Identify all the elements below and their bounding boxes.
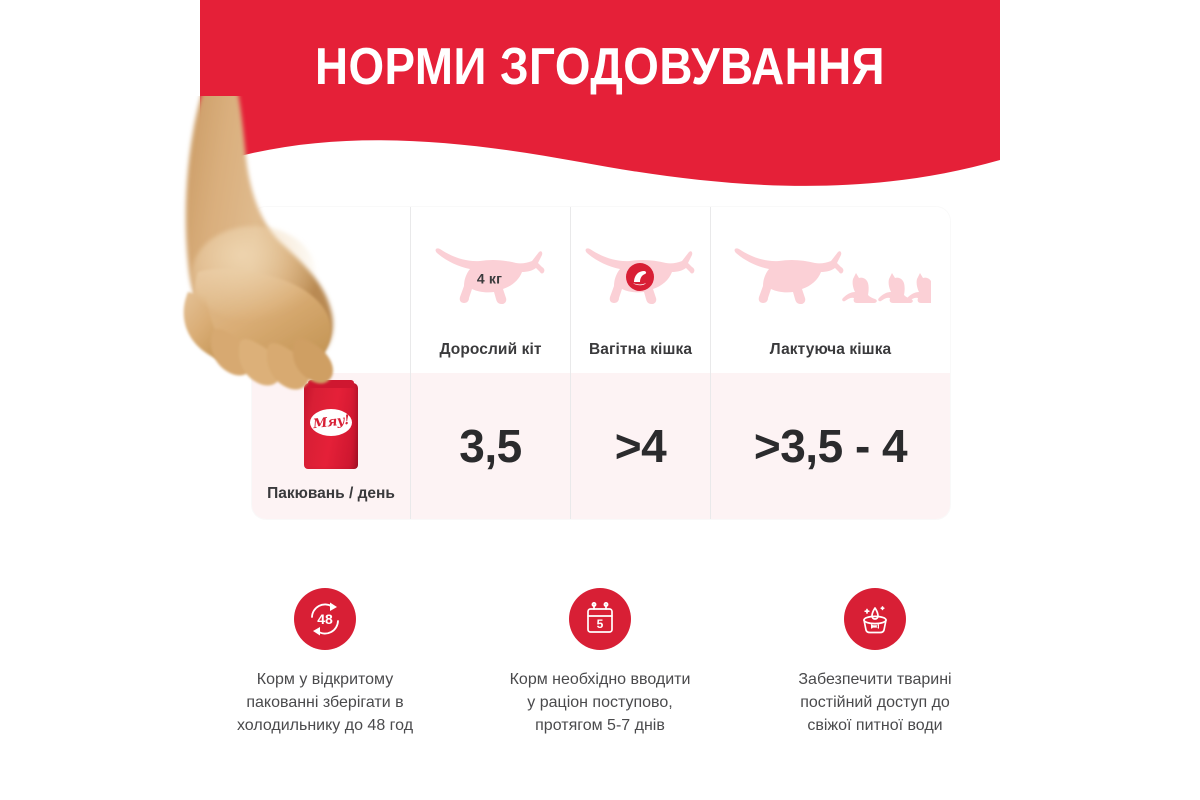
value-text: >4 <box>615 373 666 519</box>
row-label-text: Пакювань / день <box>267 484 395 505</box>
table-row-label-cell: Мяу! Пакювань / день <box>252 373 410 519</box>
value-text: >3,5 - 4 <box>754 373 907 519</box>
feeding-table: 4 кг Дорослий кіт Вагітна кішка <box>252 207 950 519</box>
tips-row: 48 Корм у відкритому пакованні зберігати… <box>200 588 1000 738</box>
tip-icon-circle: 48 <box>294 588 356 650</box>
table-cell-pregnant-cat-value: >4 <box>570 373 710 519</box>
table-header-adult-cat: 4 кг Дорослий кіт <box>410 207 570 373</box>
lactating-cat-silhouette-icon <box>731 237 931 311</box>
pregnant-cat-icon-area <box>571 207 710 341</box>
page-title: НОРМИ ЗГОДОВУВАННЯ <box>248 40 952 95</box>
tip-icon-circle <box>844 588 906 650</box>
table-header-label: Лактуюча кішка <box>770 341 892 359</box>
tip-storage: 48 Корм у відкритому пакованні зберігати… <box>200 588 450 738</box>
table-header-lactating-cat: Лактуюча кішка <box>710 207 950 373</box>
svg-text:5: 5 <box>597 617 604 631</box>
value-text: 3,5 <box>459 373 521 519</box>
brand-logo-text: Мяу! <box>312 412 350 431</box>
table-cell-adult-cat-value: 3,5 <box>410 373 570 519</box>
tip-text: Корм у відкритому пакованні зберігати в … <box>237 668 413 738</box>
table-header-label: Вагітна кішка <box>589 341 692 359</box>
tip-text: Корм необхідно вводити у раціон поступов… <box>510 668 691 738</box>
feeding-guide-page: НОРМИ ЗГОДОВУВАННЯ 4 кг Дорослий кіт <box>0 0 1200 800</box>
product-pouch-icon: Мяу! <box>304 383 358 469</box>
tip-transition: 5 Корм необхідно вводити у раціон поступ… <box>475 588 725 738</box>
table-header-pregnant-cat: Вагітна кішка <box>570 207 710 373</box>
refresh-48-icon: 48 <box>305 599 345 639</box>
product-pouch-area: Мяу! <box>252 373 410 480</box>
banner-shape <box>200 0 1000 200</box>
adult-cat-silhouette-icon <box>432 237 550 311</box>
table-corner-cell <box>252 207 410 373</box>
table-header-label: Дорослий кіт <box>439 341 541 359</box>
pregnant-cat-silhouette-icon <box>582 237 700 311</box>
brand-logo: Мяу! <box>310 409 352 436</box>
feeding-table-grid: 4 кг Дорослий кіт Вагітна кішка <box>252 207 950 519</box>
calendar-icon: 5 <box>580 599 620 639</box>
table-cell-lactating-cat-value: >3,5 - 4 <box>710 373 950 519</box>
adult-cat-icon-area: 4 кг <box>411 207 570 341</box>
tip-text: Забезпечити тварині постійний доступ до … <box>798 668 951 738</box>
lactating-cat-icon-area <box>711 207 950 341</box>
tip-icon-circle: 5 <box>569 588 631 650</box>
svg-text:48: 48 <box>317 611 333 627</box>
tip-water: Забезпечити тварині постійний доступ до … <box>750 588 1000 738</box>
header-banner: НОРМИ ЗГОДОВУВАННЯ <box>200 0 1000 200</box>
water-bowl-icon <box>855 599 895 639</box>
